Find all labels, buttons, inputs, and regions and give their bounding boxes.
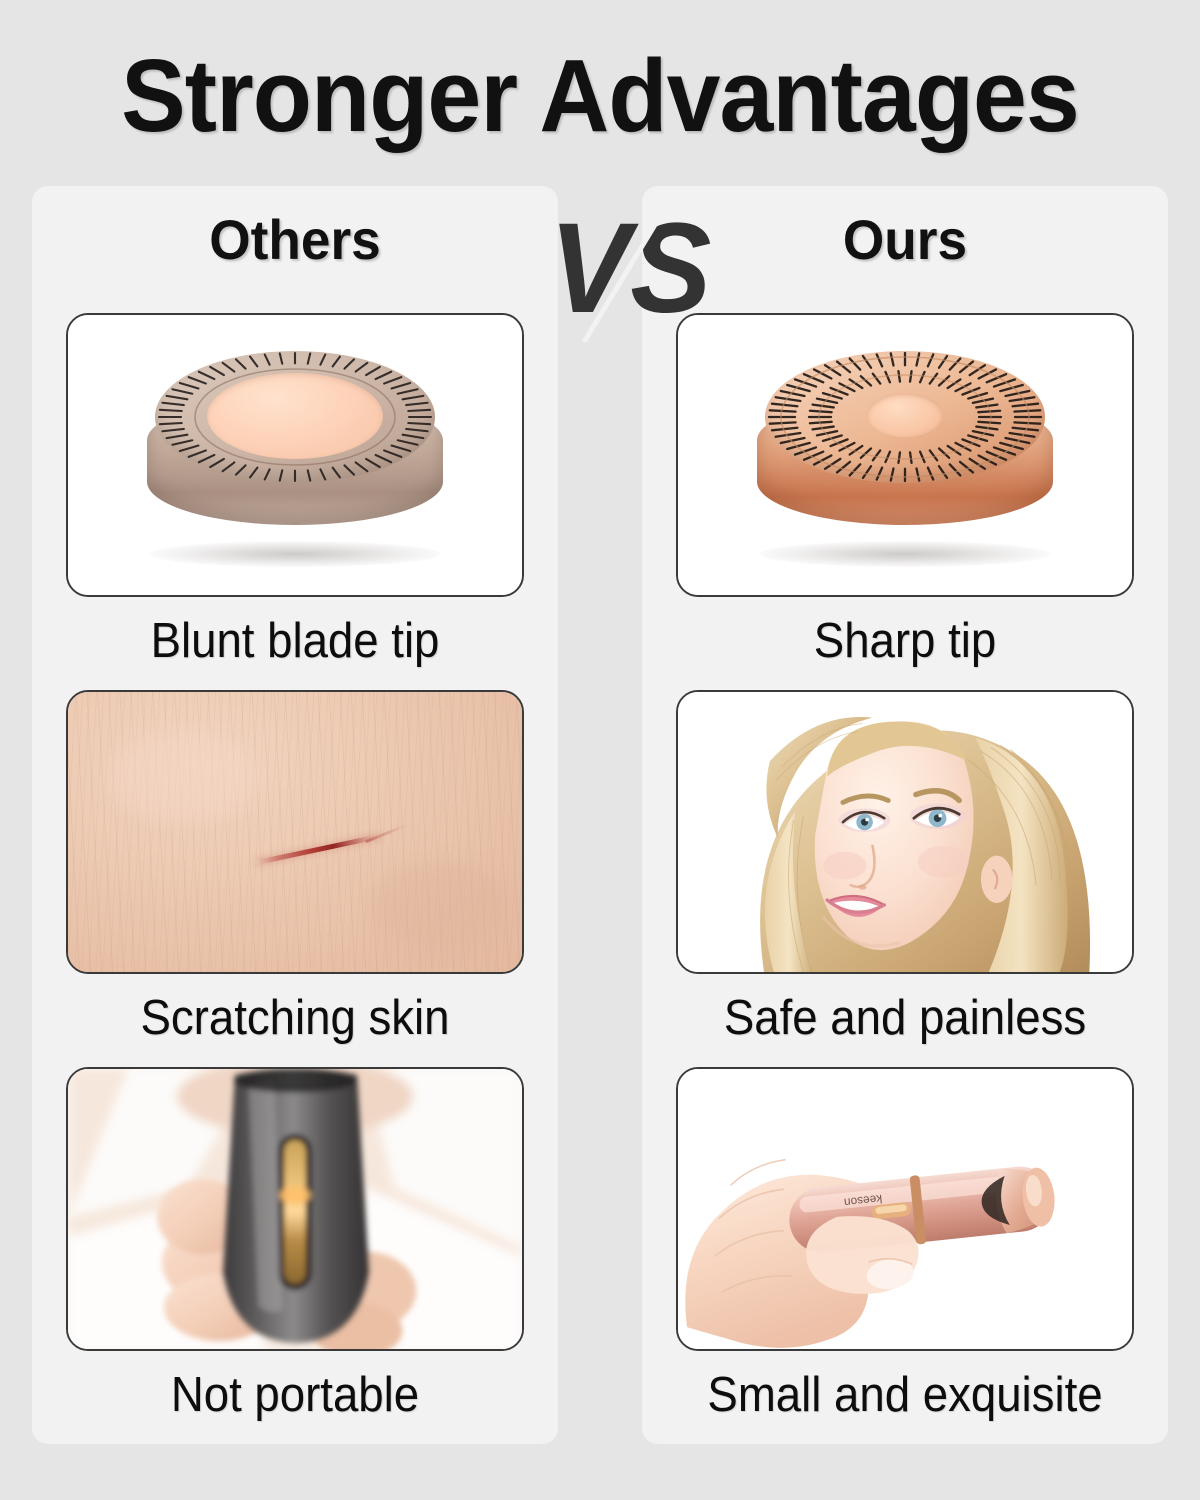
page-title: Stronger Advantages xyxy=(36,38,1164,153)
shaver-blade-plate xyxy=(155,351,435,483)
caption-ours-3: Small and exquisite xyxy=(692,1363,1118,1427)
image-card-blunt-blade xyxy=(66,313,524,597)
caption-ours-1: Sharp tip xyxy=(692,609,1118,673)
scratched-skin-closeup-photo xyxy=(68,692,522,972)
caption-ours-2: Safe and painless xyxy=(692,986,1118,1050)
image-card-bulky-device xyxy=(66,1067,524,1351)
column-heading-ours: Ours xyxy=(655,208,1155,272)
ipl-device-illustration xyxy=(68,1069,522,1349)
comparison-row-ours-2: Safe and painless xyxy=(676,690,1134,1050)
caption-others-1: Blunt blade tip xyxy=(82,609,508,673)
rose-gold-lipstick-trimmer-in-hand-photo: keeson xyxy=(678,1069,1132,1349)
woman-face-illustration xyxy=(678,692,1132,972)
shaver-center-disc xyxy=(867,393,943,437)
image-card-sharp-blade xyxy=(676,313,1134,597)
blunt-blade-shaver-head-photo xyxy=(68,315,522,595)
comparison-column-ours: Ours xyxy=(642,186,1168,1444)
comparison-row-others-1: Blunt blade tip xyxy=(66,313,524,673)
comparison-row-ours-3: keeson Small and exquisite xyxy=(676,1067,1134,1427)
comparison-column-others: Others xyxy=(32,186,558,1444)
rose-gold-sharp-shaver-head-photo xyxy=(678,315,1132,595)
skin-scratch-mark xyxy=(255,834,381,866)
skin-highlight xyxy=(108,732,258,822)
comparison-row-others-2: Scratching skin xyxy=(66,690,524,1050)
shaver-blade-plate xyxy=(765,351,1045,483)
bulky-handheld-ipl-device-photo xyxy=(68,1069,522,1349)
comparison-row-others-3: Not portable xyxy=(66,1067,524,1427)
comparison-container: Others xyxy=(32,186,1168,1444)
caption-others-2: Scratching skin xyxy=(82,986,508,1050)
skin-scratch-tail xyxy=(365,824,407,843)
column-heading-others: Others xyxy=(45,208,545,272)
skin-shadow xyxy=(368,862,508,948)
image-card-scratched-skin xyxy=(66,690,524,974)
image-card-compact-device: keeson xyxy=(676,1067,1134,1351)
smiling-woman-face-photo xyxy=(678,692,1132,972)
image-card-woman-face xyxy=(676,690,1134,974)
comparison-row-ours-1: Sharp tip xyxy=(676,313,1134,673)
caption-others-3: Not portable xyxy=(82,1363,508,1427)
rose-gold-trimmer-illustration: keeson xyxy=(678,1069,1132,1349)
shaver-head-body xyxy=(757,351,1053,547)
shaver-center-disc xyxy=(207,373,383,459)
shaver-head-body xyxy=(147,351,443,547)
